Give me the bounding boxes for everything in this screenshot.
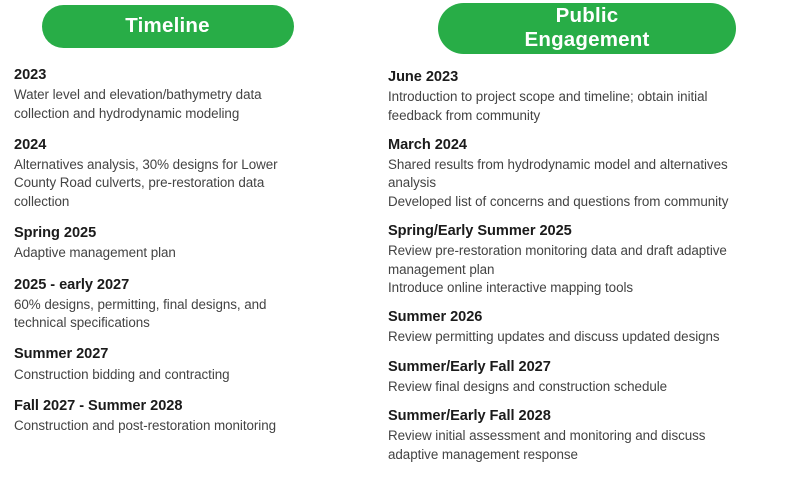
public-engagement-entry-body-line: Review permitting updates and discuss up… bbox=[388, 328, 798, 346]
timeline-entry-heading: 2023 bbox=[14, 66, 365, 85]
public-engagement-entry-heading: Summer/Early Fall 2027 bbox=[388, 358, 798, 377]
timeline-entry-body: Water level and elevation/bathymetry dat… bbox=[14, 86, 365, 123]
public-engagement-entry-heading: Summer 2026 bbox=[388, 308, 798, 327]
public-engagement-header-label: Public Engagement bbox=[524, 4, 649, 52]
public-engagement-entry-list: June 2023 Introduction to project scope … bbox=[388, 68, 798, 464]
timeline-entry: Summer 2027 Construction bidding and con… bbox=[14, 345, 365, 384]
timeline-entry-body-line: County Road culverts, pre-restoration da… bbox=[14, 174, 365, 192]
public-engagement-entry-body-line: Review initial assessment and monitoring… bbox=[388, 427, 798, 445]
public-engagement-column: Public Engagement June 2023 Introduction… bbox=[375, 0, 800, 480]
public-engagement-entry: Summer/Early Fall 2028 Review initial as… bbox=[388, 407, 798, 464]
timeline-header-wrap: Timeline bbox=[14, 0, 365, 48]
timeline-header-pill: Timeline bbox=[42, 5, 294, 48]
public-engagement-entry-body-line: Review final designs and construction sc… bbox=[388, 378, 798, 396]
timeline-entry-body-line: Alternatives analysis, 30% designs for L… bbox=[14, 156, 365, 174]
timeline-entry-body-line: collection bbox=[14, 193, 365, 211]
timeline-entry-heading: Summer 2027 bbox=[14, 345, 365, 364]
public-engagement-entry: Summer/Early Fall 2027 Review final desi… bbox=[388, 358, 798, 397]
timeline-entry-heading: 2025 - early 2027 bbox=[14, 276, 365, 295]
public-engagement-entry-body: Review initial assessment and monitoring… bbox=[388, 427, 798, 464]
timeline-entry-body-line: Construction bidding and contracting bbox=[14, 366, 365, 384]
public-engagement-entry-body: Review permitting updates and discuss up… bbox=[388, 328, 798, 346]
timeline-entry-body: Construction and post-restoration monito… bbox=[14, 417, 365, 435]
public-engagement-entry-body-line: feedback from community bbox=[388, 107, 798, 125]
public-engagement-entry-heading: June 2023 bbox=[388, 68, 798, 87]
timeline-entry-heading: Spring 2025 bbox=[14, 224, 365, 243]
public-engagement-header-pill: Public Engagement bbox=[438, 3, 736, 54]
public-engagement-entry-body: Shared results from hydrodynamic model a… bbox=[388, 156, 798, 211]
timeline-entry-body-line: Water level and elevation/bathymetry dat… bbox=[14, 86, 365, 104]
public-engagement-entry-body-line: Review pre-restoration monitoring data a… bbox=[388, 242, 798, 260]
timeline-entry-body-line: collection and hydrodynamic modeling bbox=[14, 105, 365, 123]
public-engagement-entry-body: Introduction to project scope and timeli… bbox=[388, 88, 798, 125]
public-engagement-entry: June 2023 Introduction to project scope … bbox=[388, 68, 798, 125]
timeline-entry-body: Construction bidding and contracting bbox=[14, 366, 365, 384]
timeline-header-label: Timeline bbox=[125, 14, 209, 38]
public-engagement-entry-body-line: Introduction to project scope and timeli… bbox=[388, 88, 798, 106]
timeline-entry-body-line: Construction and post-restoration monito… bbox=[14, 417, 365, 435]
timeline-entry-list: 2023 Water level and elevation/bathymetr… bbox=[14, 66, 365, 435]
timeline-entry: Spring 2025 Adaptive management plan bbox=[14, 224, 365, 263]
timeline-entry-body-line: Adaptive management plan bbox=[14, 244, 365, 262]
timeline-entry-body-line: technical specifications bbox=[14, 314, 365, 332]
timeline-entry-body-line: 60% designs, permitting, final designs, … bbox=[14, 296, 365, 314]
public-engagement-header-line: Public bbox=[524, 4, 649, 28]
public-engagement-entry: Spring/Early Summer 2025 Review pre-rest… bbox=[388, 222, 798, 297]
public-engagement-entry-heading: Summer/Early Fall 2028 bbox=[388, 407, 798, 426]
public-engagement-entry: Summer 2026 Review permitting updates an… bbox=[388, 308, 798, 347]
public-engagement-entry-body-line: adaptive management response bbox=[388, 446, 798, 464]
public-engagement-entry-body-line: analysis bbox=[388, 174, 798, 192]
public-engagement-entry-body-line: Introduce online interactive mapping too… bbox=[388, 279, 798, 297]
public-engagement-entry-body: Review pre-restoration monitoring data a… bbox=[388, 242, 798, 297]
public-engagement-entry-body-line: management plan bbox=[388, 261, 798, 279]
timeline-column: Timeline 2023 Water level and elevation/… bbox=[0, 0, 375, 480]
public-engagement-entry-heading: March 2024 bbox=[388, 136, 798, 155]
public-engagement-header-line: Engagement bbox=[524, 28, 649, 52]
timeline-entry-body: 60% designs, permitting, final designs, … bbox=[14, 296, 365, 333]
public-engagement-entry-heading: Spring/Early Summer 2025 bbox=[388, 222, 798, 241]
public-engagement-header-wrap: Public Engagement bbox=[388, 0, 798, 54]
timeline-entry: 2024 Alternatives analysis, 30% designs … bbox=[14, 136, 365, 211]
timeline-entry: 2025 - early 2027 60% designs, permittin… bbox=[14, 276, 365, 333]
timeline-entry-heading: 2024 bbox=[14, 136, 365, 155]
timeline-entry: 2023 Water level and elevation/bathymetr… bbox=[14, 66, 365, 123]
public-engagement-entry: March 2024 Shared results from hydrodyna… bbox=[388, 136, 798, 211]
timeline-entry: Fall 2027 - Summer 2028 Construction and… bbox=[14, 397, 365, 436]
public-engagement-entry-body: Review final designs and construction sc… bbox=[388, 378, 798, 396]
public-engagement-entry-body-line: Shared results from hydrodynamic model a… bbox=[388, 156, 798, 174]
timeline-entry-heading: Fall 2027 - Summer 2028 bbox=[14, 397, 365, 416]
public-engagement-entry-body-line: Developed list of concerns and questions… bbox=[388, 193, 798, 211]
timeline-engagement-infographic: Timeline 2023 Water level and elevation/… bbox=[0, 0, 800, 480]
timeline-entry-body: Alternatives analysis, 30% designs for L… bbox=[14, 156, 365, 211]
timeline-entry-body: Adaptive management plan bbox=[14, 244, 365, 262]
